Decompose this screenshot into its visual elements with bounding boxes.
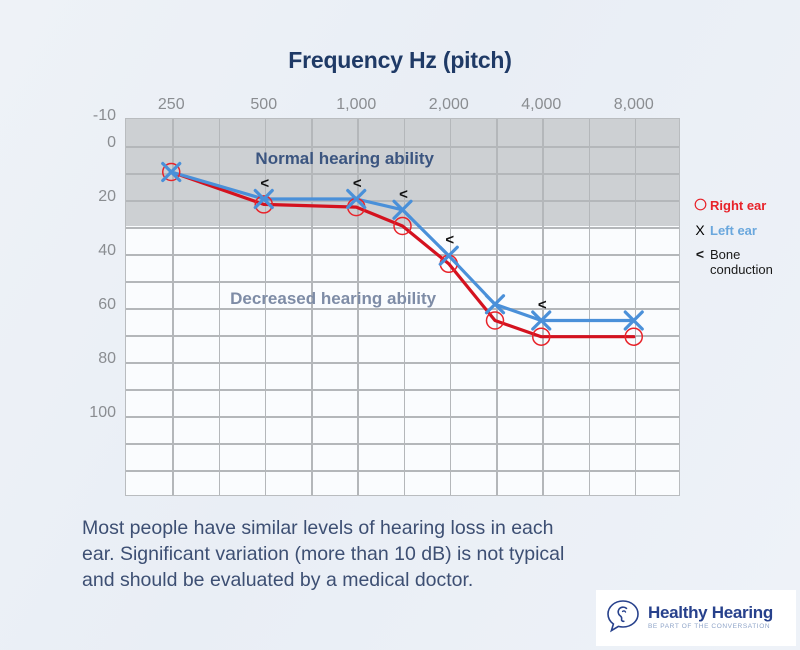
y-axis-tick-label: -10: [56, 107, 116, 125]
caption-line-2: ear. Significant variation (more than 10…: [82, 541, 682, 567]
data-point-bone-conduction: <: [538, 297, 547, 314]
legend-label-left-ear: Left ear: [710, 223, 757, 238]
circle-icon: [690, 198, 710, 214]
x-axis-tick-label: 250: [136, 96, 206, 114]
logo-tagline: BE PART OF THE CONVERSATION: [648, 622, 773, 632]
less-than-icon: <: [690, 247, 710, 262]
y-axis-tick-label: 0: [56, 134, 116, 152]
data-point-bone-conduction: <: [260, 175, 269, 192]
data-point-bone-conduction: <: [399, 186, 408, 203]
x-axis-tick-label: 4,000: [506, 96, 576, 114]
y-axis-tick-label: 40: [56, 242, 116, 260]
x-axis-tick-label: 8,000: [599, 96, 669, 114]
caption: Most people have similar levels of heari…: [82, 515, 682, 593]
data-point-left-ear: [440, 247, 457, 264]
logo-text-block: Healthy Hearing BE PART OF THE CONVERSAT…: [648, 604, 773, 632]
legend-item-bone-conduction: < Bone conduction: [690, 247, 800, 277]
legend-label-right-ear: Right ear: [710, 198, 766, 213]
x-axis-tick-label: 1,000: [321, 96, 391, 114]
legend-label-bone-conduction: Bone conduction: [710, 247, 773, 277]
legend-item-right-ear: Right ear: [690, 198, 800, 214]
audiogram-figure: Frequency Hz (pitch) dB HL (volume) <<<<…: [0, 0, 800, 650]
x-mark-icon: X: [690, 223, 710, 238]
chart-title: Frequency Hz (pitch): [0, 47, 800, 74]
data-point-bone-conduction: <: [445, 232, 454, 249]
brand-logo: Healthy Hearing BE PART OF THE CONVERSAT…: [596, 590, 796, 646]
plot-annotation: Decreased hearing ability: [230, 289, 436, 309]
caption-line-1: Most people have similar levels of heari…: [82, 515, 682, 541]
logo-name: Healthy Hearing: [648, 604, 773, 622]
ear-speech-bubble-icon: [604, 597, 642, 640]
data-point-left-ear: [487, 296, 504, 313]
y-axis-tick-label: 80: [56, 350, 116, 368]
plot-annotation: Normal hearing ability: [255, 149, 434, 169]
x-axis-tick-label: 500: [229, 96, 299, 114]
y-axis-tick-label: 60: [56, 296, 116, 314]
caption-line-3: and should be evaluated by a medical doc…: [82, 567, 682, 593]
chart-legend: Right ear X Left ear < Bone conduction: [690, 198, 800, 286]
y-axis-tick-label: 100: [56, 404, 116, 422]
data-point-left-ear: [163, 164, 180, 181]
y-axis-tick-label: 20: [56, 188, 116, 206]
legend-label-bone-line1: Bone: [710, 247, 740, 262]
data-point-bone-conduction: <: [353, 175, 362, 192]
legend-item-left-ear: X Left ear: [690, 223, 800, 238]
legend-label-bone-line2: conduction: [710, 262, 773, 277]
x-axis-tick-label: 2,000: [414, 96, 484, 114]
